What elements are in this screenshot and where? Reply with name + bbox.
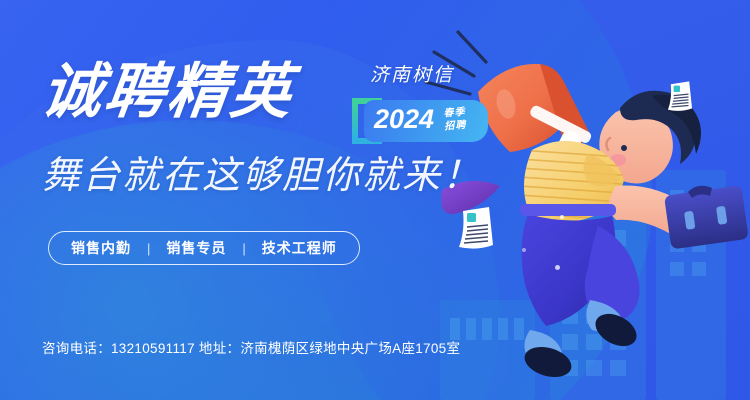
job-positions-pill: 销售内勤 | 销售专员 | 技术工程师 <box>48 231 360 265</box>
resume-document-icon-small <box>665 80 695 114</box>
character-legs <box>520 204 642 382</box>
job-tag-sales-specialist[interactable]: 销售专员 <box>166 238 226 258</box>
decorative-dot <box>522 248 526 252</box>
recruitment-banner: 诚聘精英 济南树信 2024 春季 招聘 舞台就在这够胆你就来！ 销售内勤 | … <box>0 0 750 400</box>
badge-season-label: 春季 招聘 <box>443 105 485 134</box>
job-tag-sales-assistant[interactable]: 销售内勤 <box>71 238 131 258</box>
tag-separator: | <box>242 241 245 256</box>
badge-season-line-2: 招聘 <box>444 118 485 134</box>
recruitment-badge: 济南树信 2024 春季 招聘 <box>352 60 512 150</box>
decorative-dot <box>555 265 560 270</box>
company-name: 济南树信 <box>370 60 454 87</box>
briefcase <box>664 185 749 249</box>
tag-separator: | <box>147 241 150 256</box>
page-title: 诚聘精英 <box>38 62 297 122</box>
badge-year: 2024 <box>374 104 434 135</box>
job-tag-technical-engineer[interactable]: 技术工程师 <box>262 238 337 258</box>
resume-document-icon <box>455 205 497 253</box>
decorative-dot <box>560 215 564 219</box>
contact-info: 咨询电话：13210591117 地址：济南槐荫区绿地中央广场A座1705室 <box>42 337 460 357</box>
page-subtitle: 舞台就在这够胆你就来！ <box>42 157 482 195</box>
